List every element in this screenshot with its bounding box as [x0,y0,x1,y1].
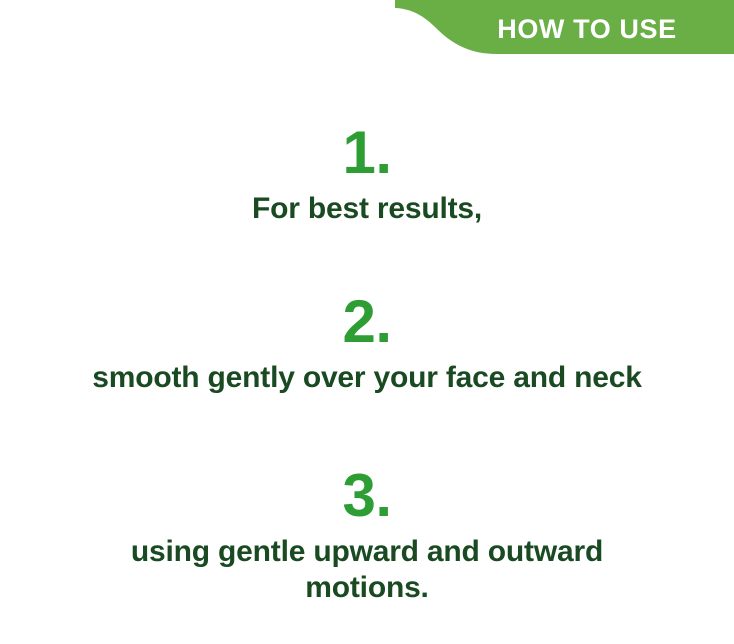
how-to-use-panel: HOW TO USE 1. For best results, 2. smoot… [0,0,734,644]
page-title: HOW TO USE [460,10,714,48]
step-number-2: 2. [0,292,734,352]
step-text-3: using gentle upward and outward motions. [0,534,734,606]
step-text-2: smooth gently over your face and neck [0,360,734,396]
step-number-1: 1. [0,123,734,183]
step-text-1: For best results, [0,191,734,227]
steps-list: 1. For best results, 2. smooth gently ov… [0,56,734,644]
step-number-3: 3. [0,466,734,526]
step-item-1: 1. For best results, [0,123,734,227]
step-item-2: 2. smooth gently over your face and neck [0,292,734,396]
step-item-3: 3. using gentle upward and outward motio… [0,466,734,606]
